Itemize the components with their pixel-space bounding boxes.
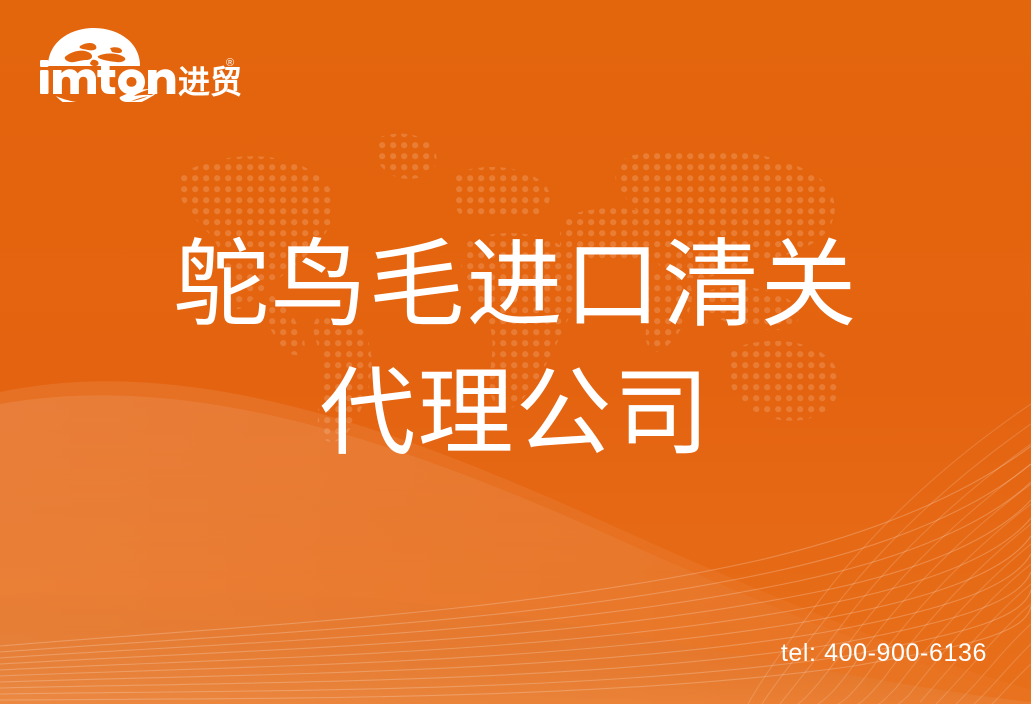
promo-banner: 进贸通 ® 鸵鸟毛进口清关 代理公司 tel: 400-900-6136 bbox=[0, 0, 1031, 704]
logo-chinese-text: 进贸通 bbox=[178, 64, 242, 100]
contact-phone[interactable]: tel: 400-900-6136 bbox=[781, 641, 987, 666]
brand-logo[interactable]: 进贸通 ® bbox=[36, 26, 242, 102]
headline-line-1: 鸵鸟毛进口清关 bbox=[0, 222, 1031, 350]
headline-line-2: 代理公司 bbox=[0, 350, 1031, 478]
registered-trademark-icon: ® bbox=[226, 57, 234, 69]
headline: 鸵鸟毛进口清关 代理公司 bbox=[0, 222, 1031, 478]
logo-wordmark-chinese: 进贸通 ® bbox=[178, 57, 242, 100]
